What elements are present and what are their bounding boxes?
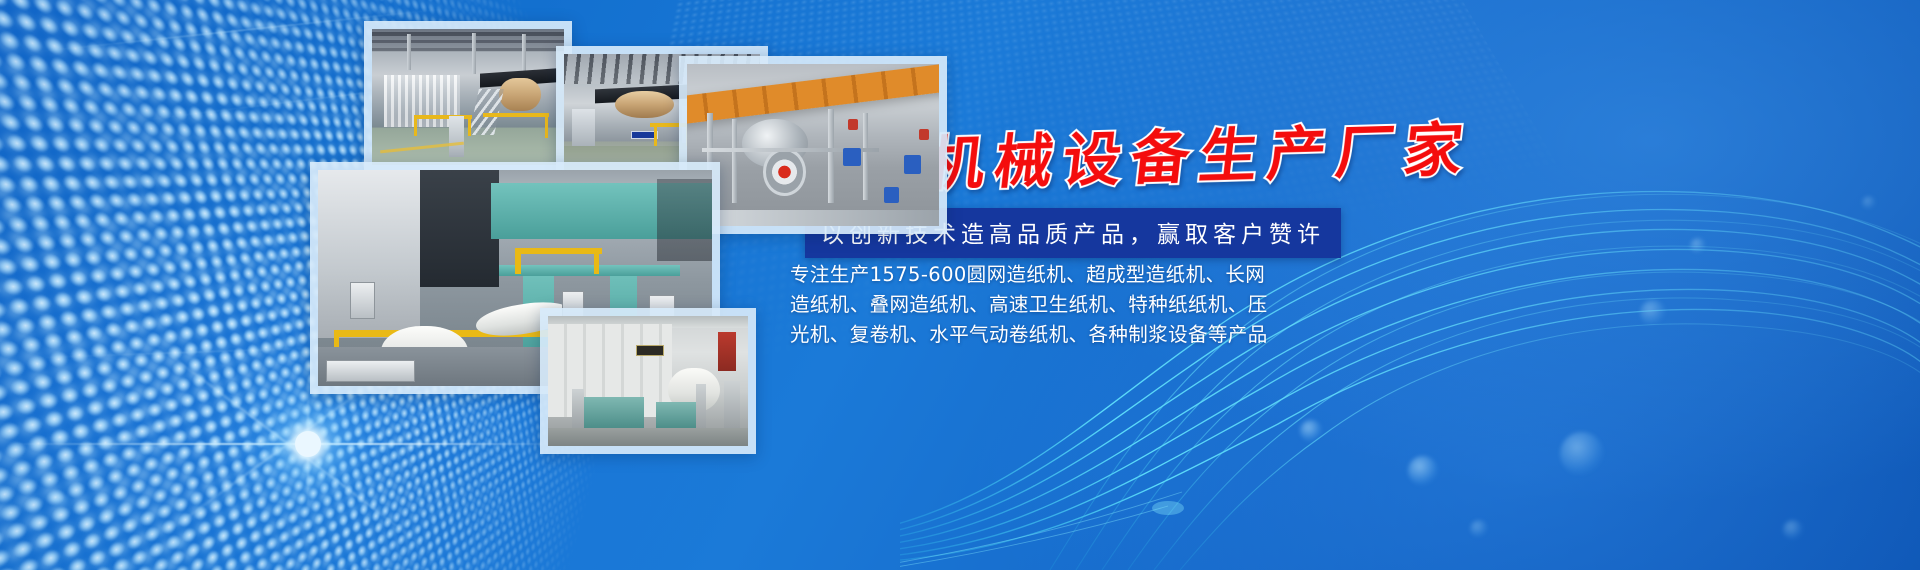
bokeh-dot xyxy=(1408,456,1438,486)
bokeh-dot xyxy=(1690,238,1706,254)
wave-mesh-graphic xyxy=(900,140,1920,570)
bokeh-dot xyxy=(172,540,188,549)
bokeh-dot xyxy=(1300,420,1322,442)
workshop-interior-photo[interactable] xyxy=(540,308,756,454)
light-streak xyxy=(20,346,350,359)
description-text: 专注生产1575-600圆网造纸机、超成型造纸机、长网造纸机、叠网造纸机、高速卫… xyxy=(790,260,1282,350)
paper-mill-hall-photo[interactable] xyxy=(364,21,572,173)
bokeh-dot xyxy=(1470,520,1488,538)
promo-banner: 造纸机械设备生产厂家 以创新技术造高品质产品，赢取客户赞许 专注生产1575-6… xyxy=(0,0,1920,570)
bokeh-dot xyxy=(1640,300,1666,326)
bokeh-dot xyxy=(1560,432,1604,476)
bokeh-dot xyxy=(1783,520,1803,540)
bokeh-dot xyxy=(1862,196,1876,210)
bokeh-dot xyxy=(54,495,72,505)
